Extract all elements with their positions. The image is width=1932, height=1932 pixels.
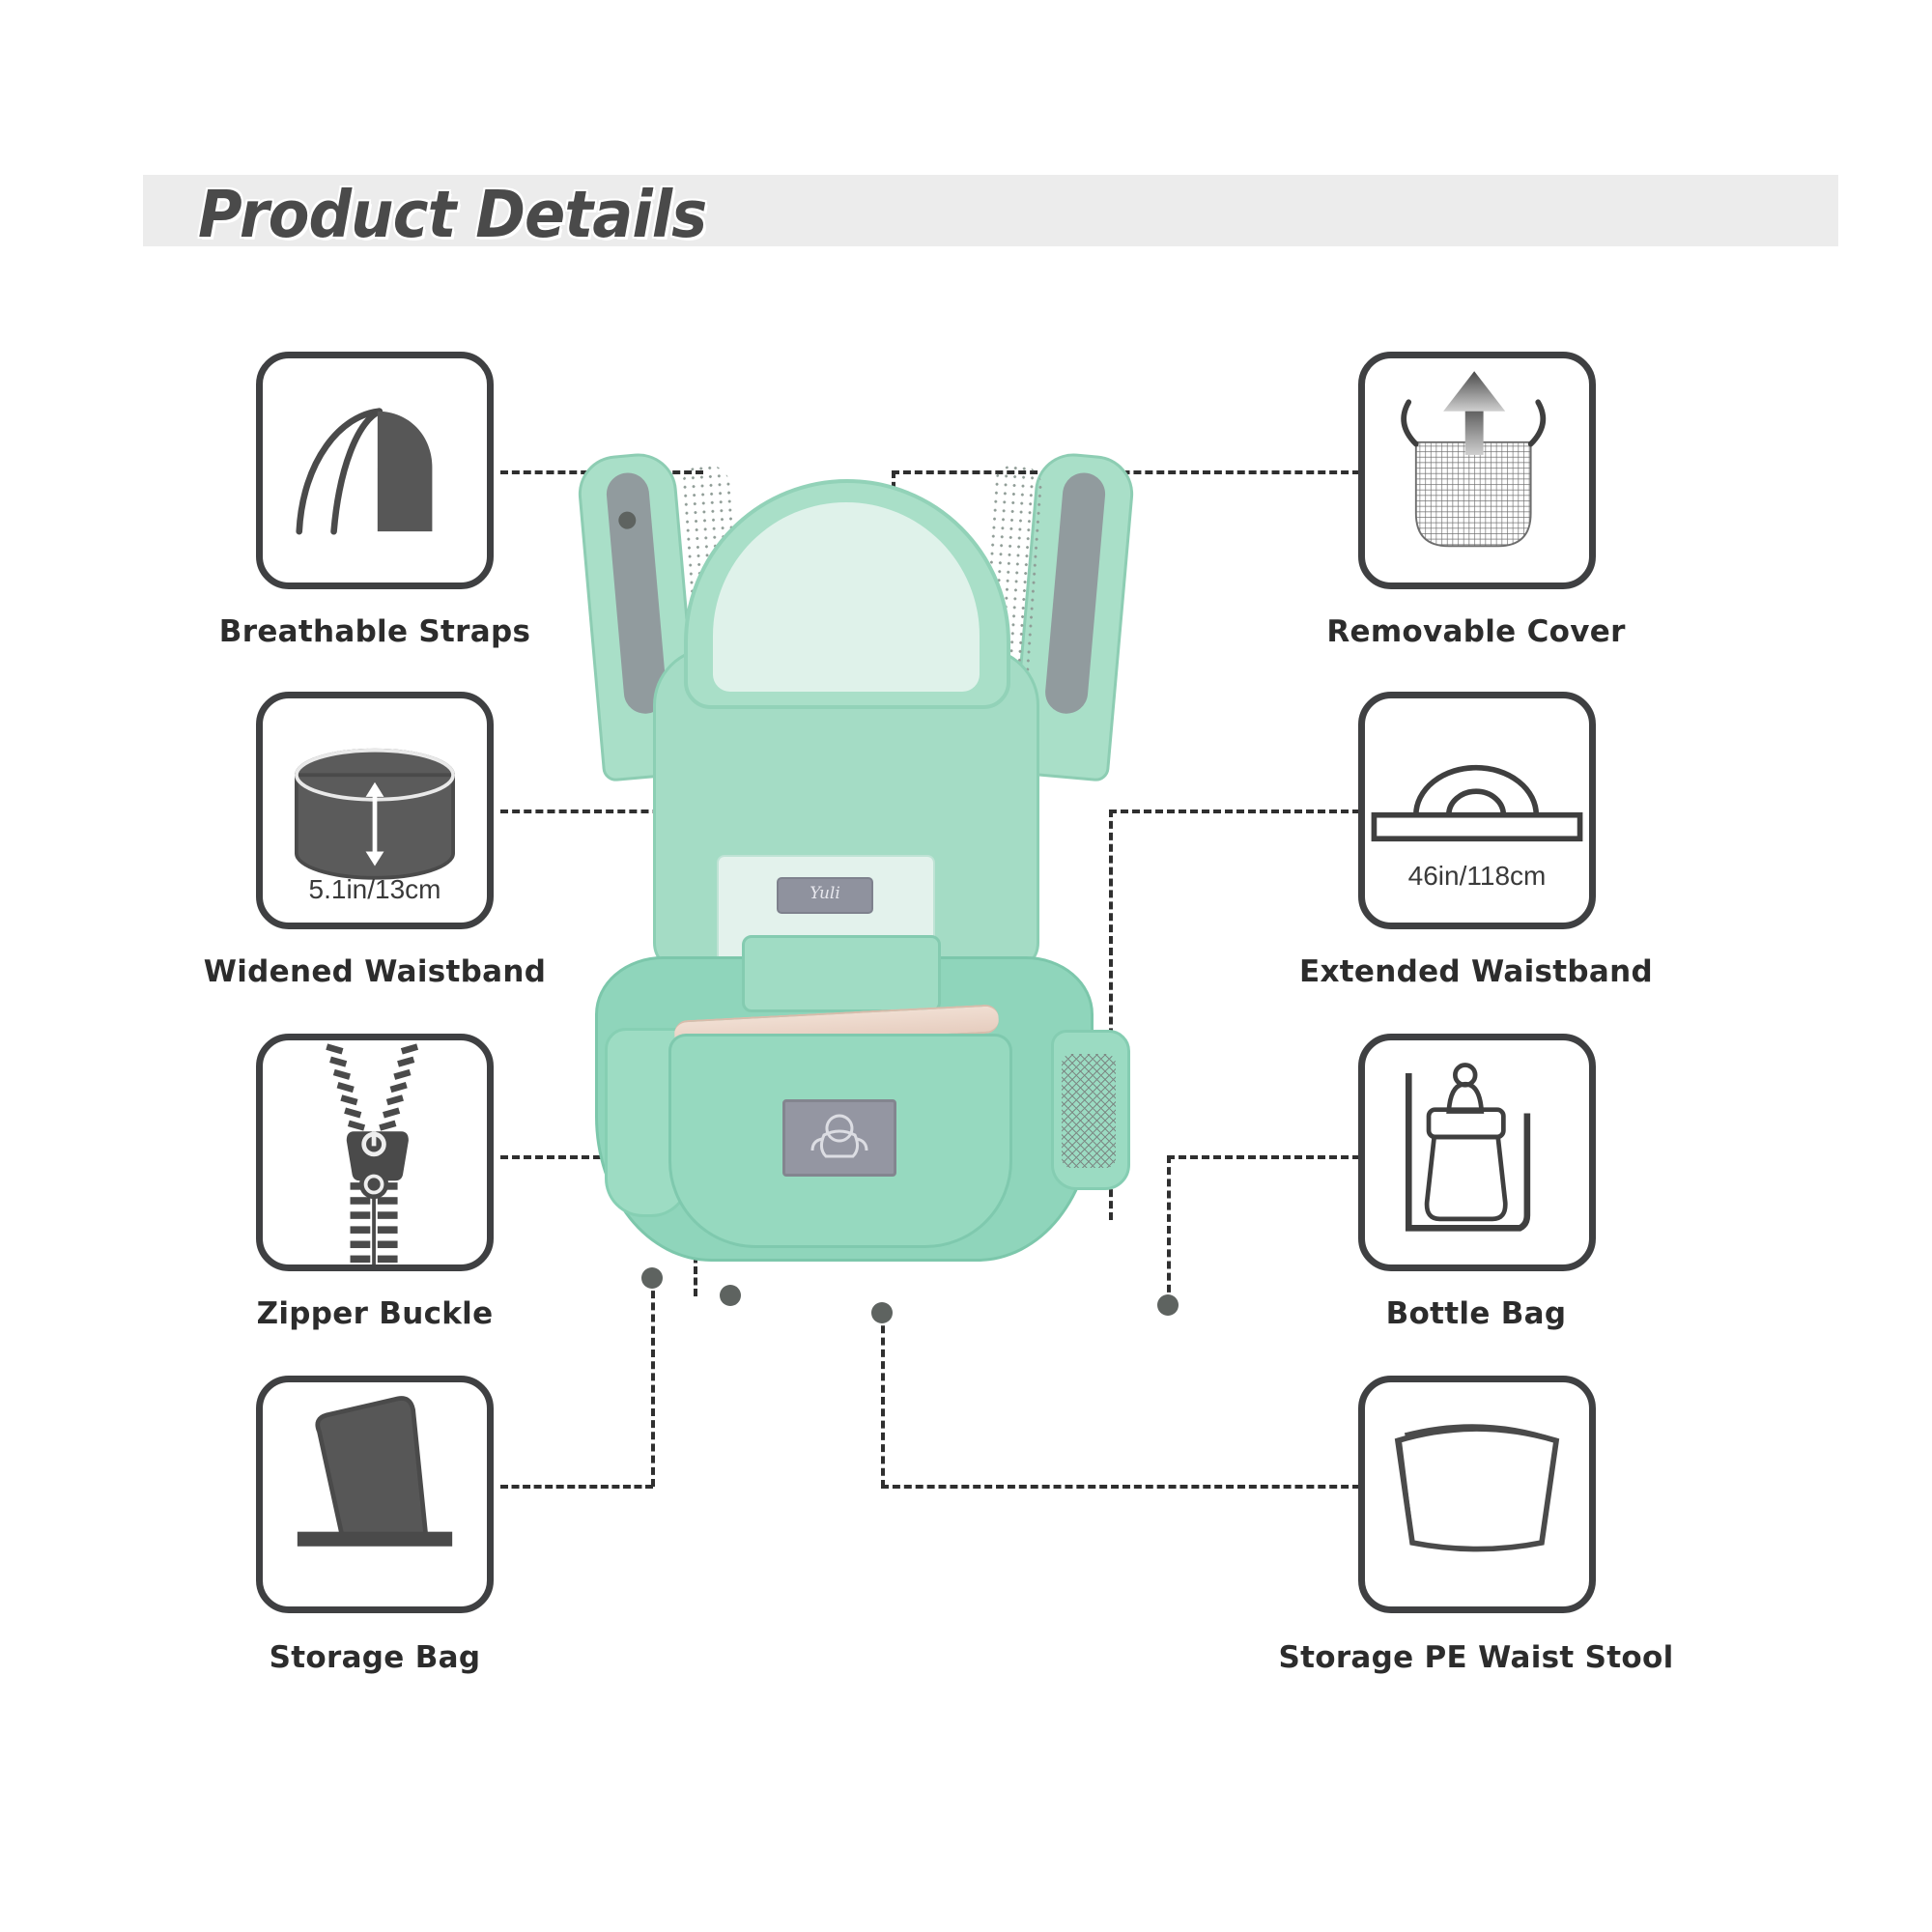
icon-box-storage-pe-waist-stool [1358,1376,1596,1613]
storage-pouch-icon [263,1382,487,1606]
label-storage-bag: Storage Bag [124,1640,626,1675]
brand-label-text: Yuli [779,884,871,903]
label-widened-waistband: Widened Waistband [124,954,626,989]
mesh-pouch-up-arrow-icon [1365,358,1589,582]
icon-box-removable-cover [1358,352,1596,589]
icon-box-storage-bag [256,1376,494,1613]
label-zipper-buckle: Zipper Buckle [124,1296,626,1331]
zipper-icon [263,1040,487,1264]
brand-label-badge: Yuli [777,877,873,914]
baby-bottle-icon [1365,1040,1589,1264]
label-breathable-straps: Breathable Straps [124,614,626,649]
icon-box-breathable-straps [256,352,494,589]
removable-hood-cover [684,479,1010,709]
label-storage-pe-waist-stool: Storage PE Waist Stool [1225,1640,1727,1675]
seat-flap [742,935,941,1012]
dimension-widened-waistband: 5.1in/13cm [263,874,487,905]
strap-padding-right [1043,471,1107,716]
hood-mesh [713,502,980,692]
dimension-extended-waistband: 46in/118cm [1365,861,1589,892]
baby-logo-badge [782,1099,896,1177]
icon-box-extended-waistband: 46in/118cm [1358,692,1596,929]
page-title: Product Details [198,177,706,252]
bottle-mesh-pocket [1051,1030,1130,1190]
arched-straps-icon [263,358,487,582]
product-image-baby-carrier: Yuli [580,454,1333,1517]
icon-box-bottle-bag [1358,1034,1596,1271]
bottle-pocket-mesh [1062,1054,1116,1168]
icon-box-zipper-buckle [256,1034,494,1271]
waist-stool-icon [1365,1382,1589,1606]
baby-logo-icon [785,1102,894,1174]
icon-box-widened-waistband: 5.1in/13cm [256,692,494,929]
